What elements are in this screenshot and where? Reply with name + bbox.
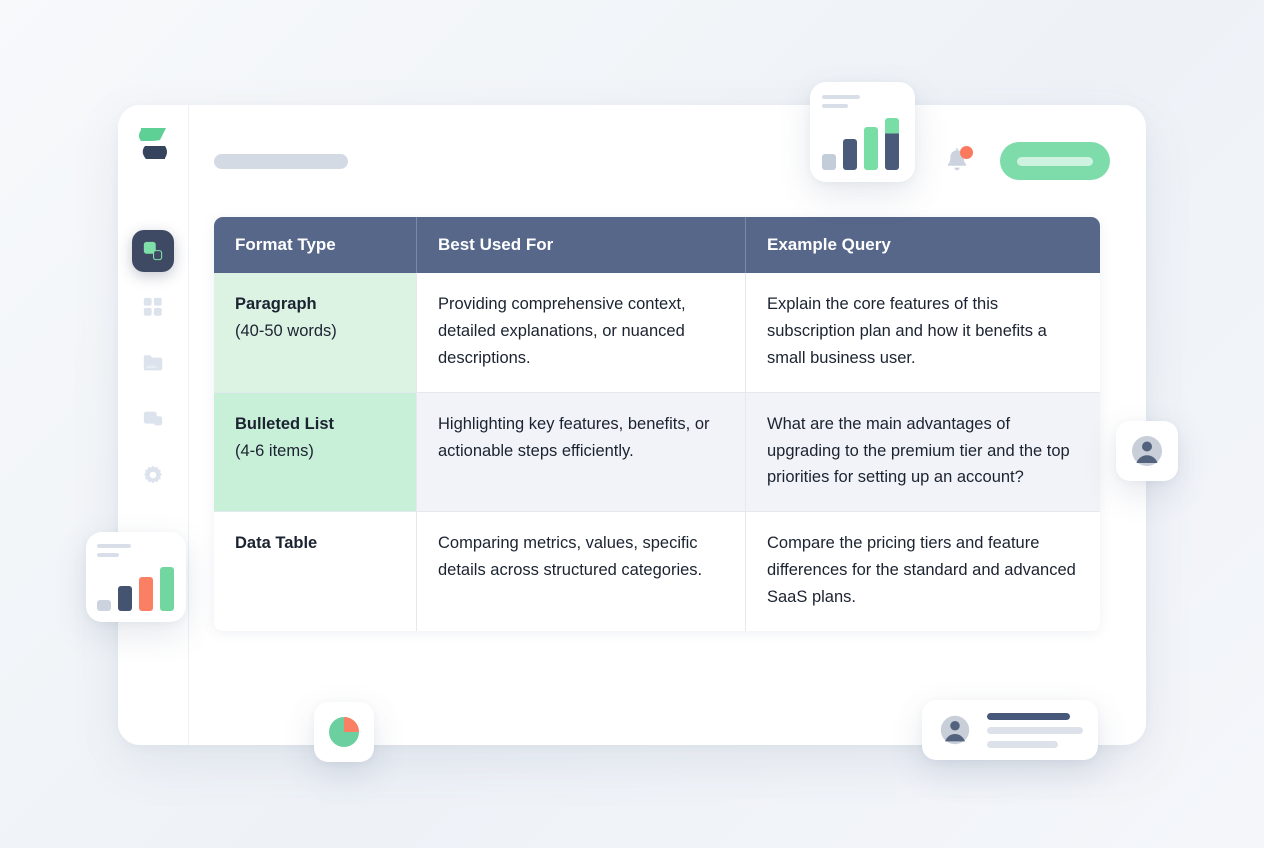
user-name-line (987, 713, 1070, 720)
cell-format-type: Data Table (214, 512, 417, 631)
table-area: Format Type Best Used For Example Query … (189, 217, 1146, 631)
column-header-format-type: Format Type (214, 217, 417, 273)
topbar (189, 105, 1146, 217)
format-type-name: Bulleted List (235, 411, 396, 438)
bar-chart-card-top (810, 82, 915, 182)
folder-icon (142, 352, 164, 374)
placeholder-line (97, 544, 131, 548)
app-window: Format Type Best Used For Example Query … (118, 105, 1146, 745)
bar (885, 118, 899, 170)
bar (843, 139, 857, 170)
pie-chart-card (314, 702, 374, 762)
bar (160, 567, 174, 611)
format-type-sub: (40-50 words) (235, 318, 396, 345)
user-info-card (922, 700, 1098, 760)
leaf-logo (133, 122, 173, 168)
notifications-button[interactable] (944, 147, 970, 175)
avatar-icon (1128, 432, 1166, 470)
bar-chart (97, 567, 175, 611)
layout-panel-icon (142, 240, 164, 262)
cell-example-query: What are the main advantages of upgradin… (746, 393, 1100, 513)
cell-format-type: Paragraph (40-50 words) (214, 273, 417, 393)
table-row: Bulleted List (4-6 items) Highlighting k… (214, 393, 1100, 513)
format-type-name: Paragraph (235, 291, 396, 318)
sidebar-item-layers[interactable] (132, 398, 174, 440)
sidebar-item-files[interactable] (132, 342, 174, 384)
placeholder-line (987, 727, 1083, 734)
cell-best-used-for: Providing comprehensive context, detaile… (417, 273, 746, 393)
grid-dashboard-icon (142, 296, 164, 318)
placeholder-line (822, 104, 848, 108)
bar (97, 600, 111, 611)
user-info-lines (987, 713, 1083, 748)
format-type-name: Data Table (235, 530, 396, 557)
sidebar (118, 105, 189, 745)
table-row: Paragraph (40-50 words) Providing compre… (214, 273, 1100, 393)
avatar-card (1116, 421, 1178, 481)
placeholder-line (987, 741, 1058, 748)
table-row: Data Table Comparing metrics, values, sp… (214, 512, 1100, 631)
bar (822, 154, 836, 170)
notification-badge (960, 146, 973, 159)
bar (864, 127, 878, 170)
cell-format-type: Bulleted List (4-6 items) (214, 393, 417, 513)
cell-best-used-for: Comparing metrics, values, specific deta… (417, 512, 746, 631)
column-header-example-query: Example Query (746, 217, 1100, 273)
layers-copy-icon (142, 408, 164, 430)
bar (139, 577, 153, 611)
main-content: Format Type Best Used For Example Query … (189, 105, 1146, 745)
column-header-best-used-for: Best Used For (417, 217, 746, 273)
gear-icon (142, 464, 164, 486)
primary-action-label (1017, 157, 1093, 166)
bar-chart (822, 118, 903, 170)
sidebar-item-layout[interactable] (132, 230, 174, 272)
sidebar-item-dashboard[interactable] (132, 286, 174, 328)
pie-chart-icon (325, 713, 363, 751)
format-types-table: Format Type Best Used For Example Query … (214, 217, 1100, 631)
cell-example-query: Explain the core features of this subscr… (746, 273, 1100, 393)
avatar-icon (937, 712, 973, 748)
table-header-row: Format Type Best Used For Example Query (214, 217, 1100, 273)
cell-best-used-for: Highlighting key features, benefits, or … (417, 393, 746, 513)
bar-chart-card-left (86, 532, 186, 622)
sidebar-item-settings[interactable] (132, 454, 174, 496)
search-input[interactable] (214, 154, 348, 169)
chart-card-title-lines (822, 95, 903, 108)
placeholder-line (97, 553, 119, 557)
cell-example-query: Compare the pricing tiers and feature di… (746, 512, 1100, 631)
bar (118, 586, 132, 611)
placeholder-line (822, 95, 860, 99)
primary-action-button[interactable] (1000, 142, 1110, 180)
chart-card-title-lines (97, 544, 175, 557)
format-type-sub: (4-6 items) (235, 438, 396, 465)
